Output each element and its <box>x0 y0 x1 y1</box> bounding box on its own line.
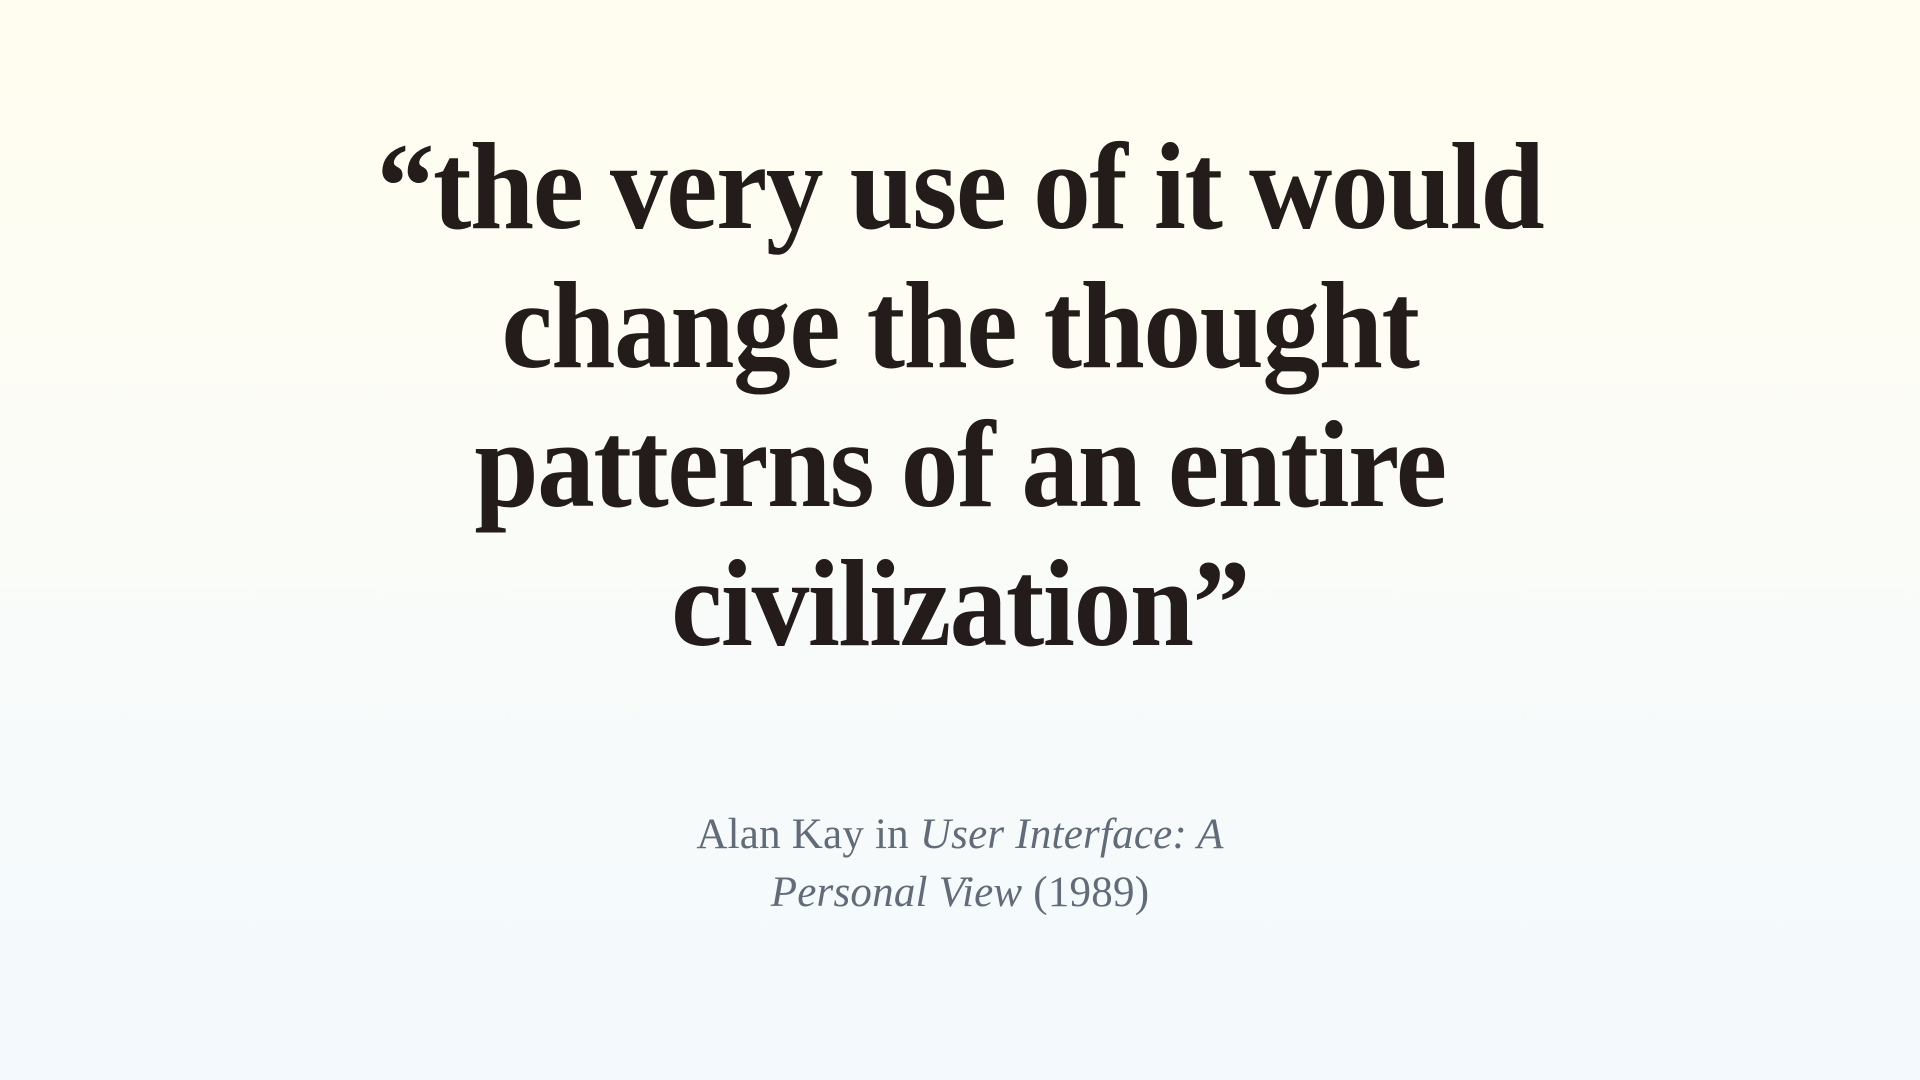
attribution-work-title-part2: Personal View <box>771 869 1023 916</box>
attribution-line-2: Personal View (1989) <box>0 864 1920 922</box>
quote-slide: “the very use of it would change the tho… <box>0 0 1920 1080</box>
quote-text: “the very use of it would change the tho… <box>309 118 1611 674</box>
attribution: Alan Kay in User Interface: A Personal V… <box>0 806 1920 922</box>
attribution-work-title-part1: User Interface: A <box>920 811 1224 858</box>
quote-line-1: “the very use of it would <box>309 118 1611 257</box>
quote-line-4: civilization” <box>309 535 1611 674</box>
attribution-line-1: Alan Kay in User Interface: A <box>0 806 1920 864</box>
quote-line-2: change the thought <box>309 257 1611 396</box>
attribution-year: (1989) <box>1022 869 1149 916</box>
attribution-author-prefix: Alan Kay in <box>696 811 920 858</box>
quote-line-3: patterns of an entire <box>309 396 1611 535</box>
quote-block: “the very use of it would change the tho… <box>0 118 1920 674</box>
